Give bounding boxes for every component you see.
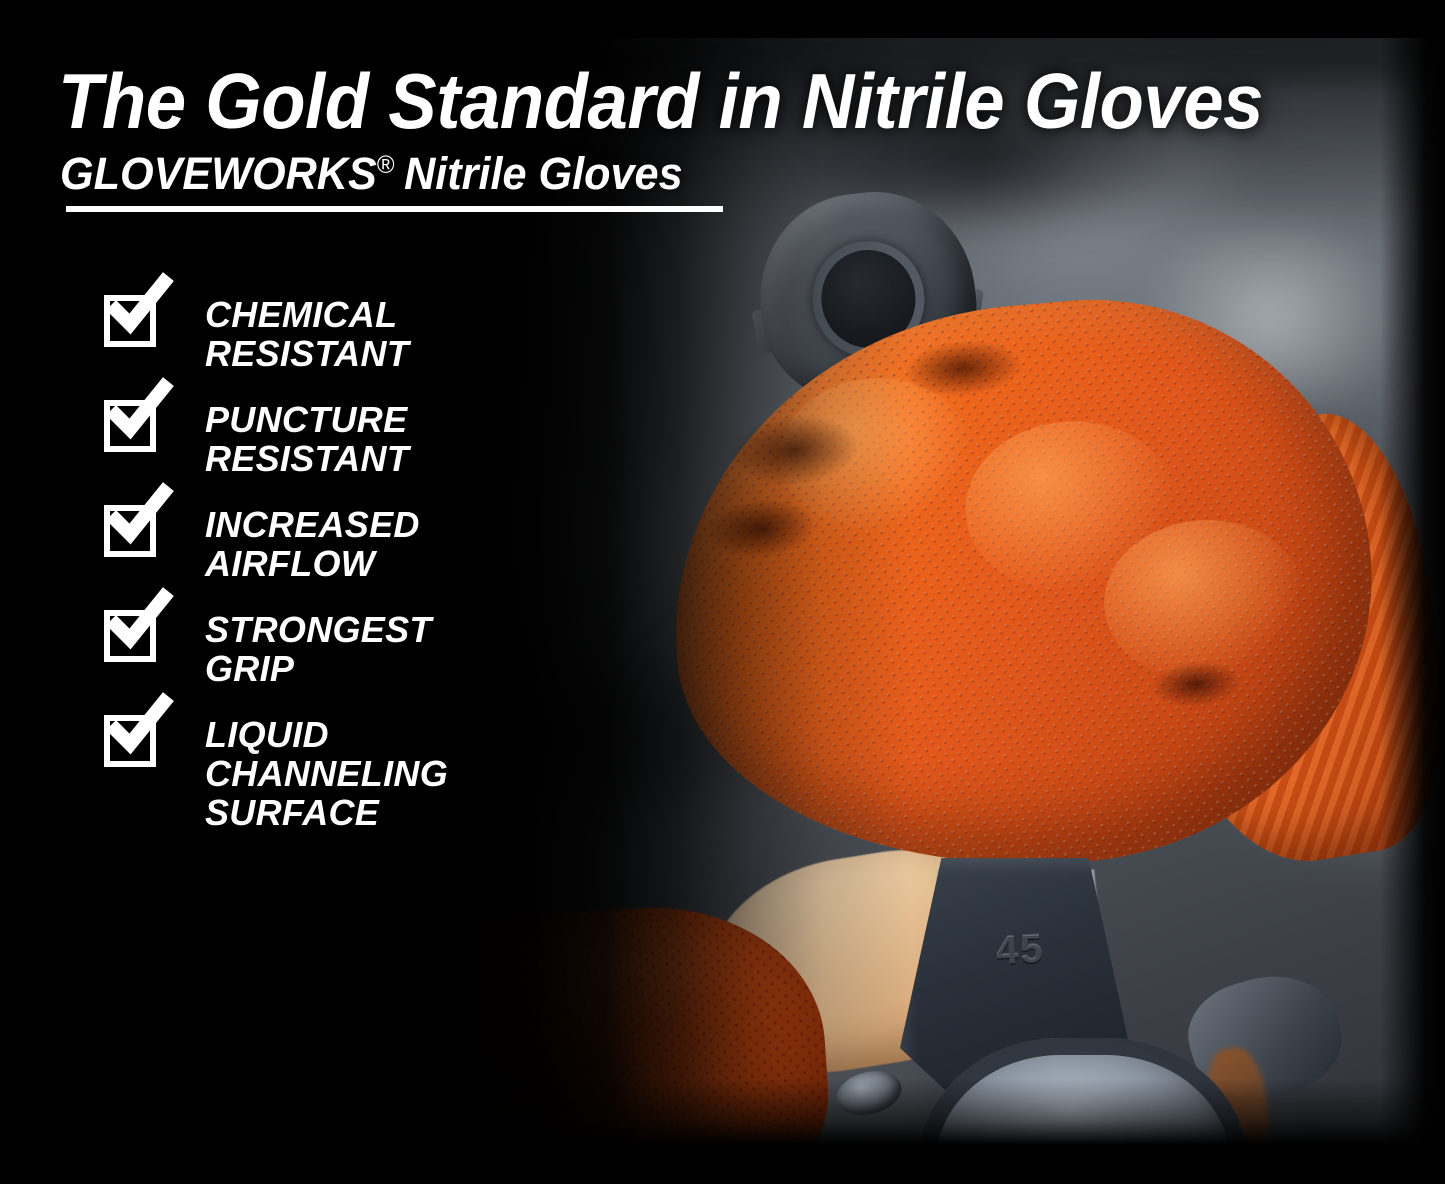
- feature-label: STRONGEST GRIP: [205, 605, 432, 689]
- checkbox-checked-icon: [104, 290, 160, 346]
- feature-item: LIQUID CHANNELING SURFACE: [104, 710, 448, 833]
- brand-subtitle: GLOVEWORKS®Nitrile Gloves: [60, 148, 683, 200]
- feature-label: CHEMICAL RESISTANT: [205, 290, 409, 374]
- feature-item: PUNCTURE RESISTANT: [104, 395, 409, 479]
- edge-vignette: [0, 38, 1445, 1145]
- product-photo: 45: [0, 38, 1445, 1145]
- feature-label: LIQUID CHANNELING SURFACE: [205, 710, 448, 833]
- checkbox-checked-icon: [104, 605, 160, 661]
- feature-item: CHEMICAL RESISTANT: [104, 290, 409, 374]
- brand-tagline: Nitrile Gloves: [404, 148, 683, 199]
- feature-item: INCREASED AIRFLOW: [104, 500, 420, 584]
- feature-label: INCREASED AIRFLOW: [205, 500, 420, 584]
- checkbox-checked-icon: [104, 500, 160, 556]
- checkbox-checked-icon: [104, 710, 160, 766]
- feature-item: STRONGEST GRIP: [104, 605, 432, 689]
- checkbox-checked-icon: [104, 395, 160, 451]
- promo-banner: 45 The Gold Standard in Nitrile Gloves G…: [0, 0, 1445, 1184]
- registered-trademark-icon: ®: [377, 151, 395, 179]
- page-title: The Gold Standard in Nitrile Gloves: [58, 56, 1263, 147]
- brand-name: GLOVEWORKS: [60, 148, 377, 199]
- title-underline: [66, 206, 723, 212]
- feature-label: PUNCTURE RESISTANT: [205, 395, 409, 479]
